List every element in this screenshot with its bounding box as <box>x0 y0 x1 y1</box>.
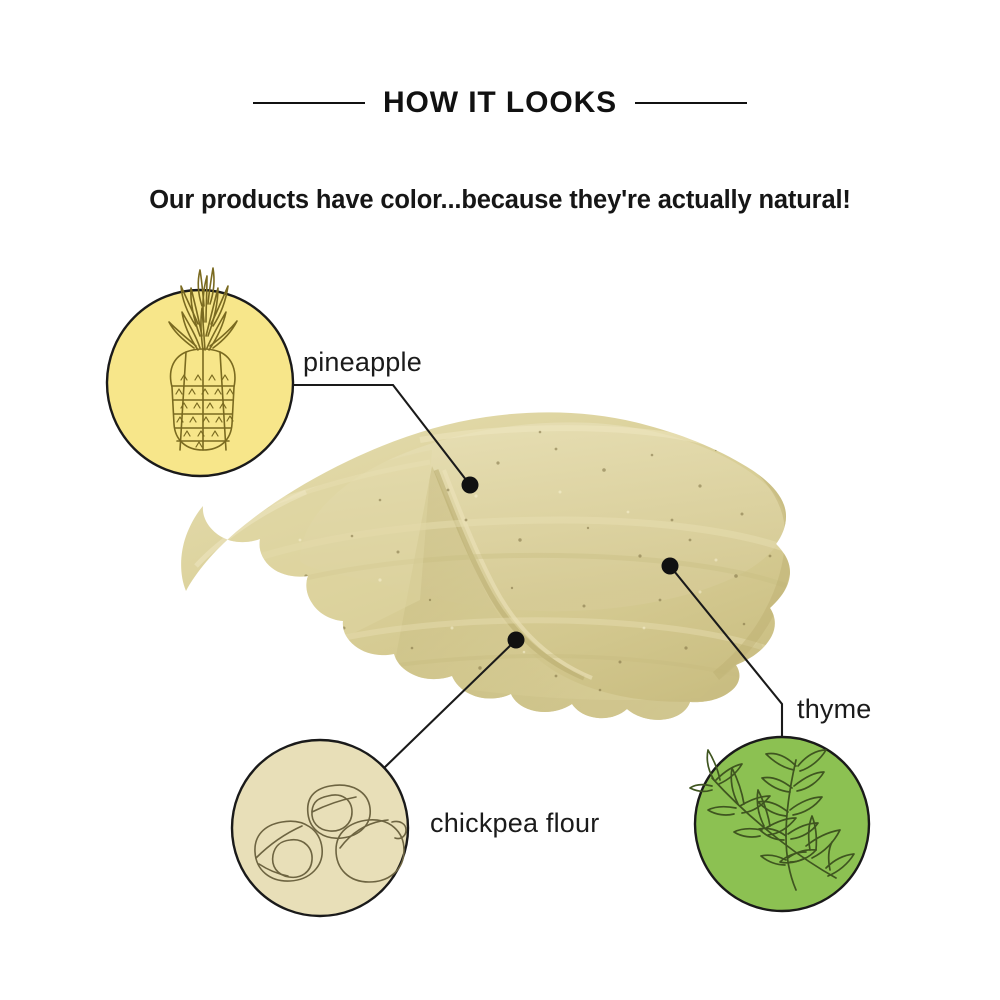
callout-circle-chickpea[interactable] <box>232 740 408 916</box>
leader-dot-pineapple <box>462 477 479 494</box>
callout-circle-pineapple[interactable] <box>107 268 293 476</box>
leader-dot-chickpea <box>508 632 525 649</box>
leader-dot-thyme <box>662 558 679 575</box>
callout-diagram <box>0 0 1000 1000</box>
illustration-stage <box>0 0 1000 1000</box>
callout-label-thyme: thyme <box>797 694 872 725</box>
callout-label-pineapple: pineapple <box>303 347 422 378</box>
product-swatch <box>181 412 812 740</box>
callout-label-chickpea: chickpea flour <box>430 808 599 839</box>
callout-circle-thyme[interactable] <box>690 737 869 911</box>
